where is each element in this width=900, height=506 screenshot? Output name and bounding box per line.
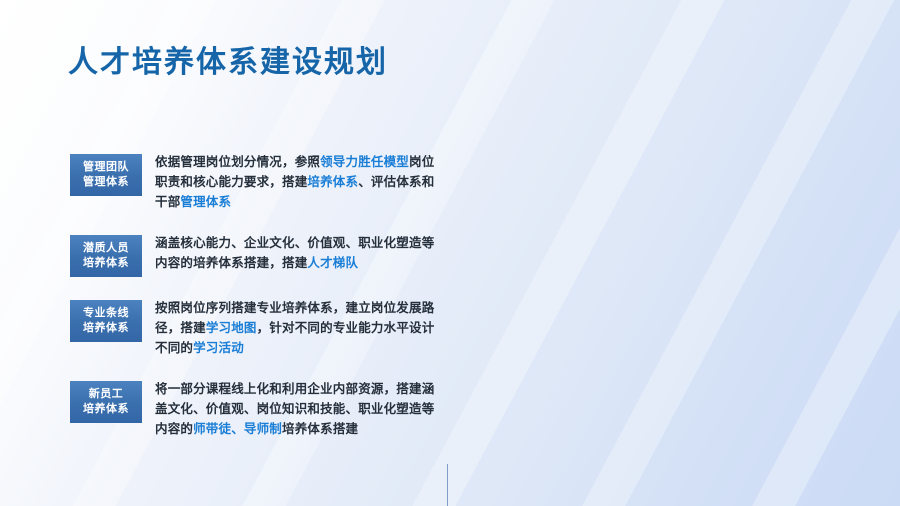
item-badge-line1: 管理团队 [83,160,129,175]
page-title: 人才培养体系建设规划 [68,37,900,81]
item-description: 按照岗位序列搭建专业培养体系，建立岗位发展路径，搭建学习地图，针对不同的专业能力… [142,298,440,358]
highlight-text: 学习活动 [193,341,244,355]
body-text: 培养体系搭建 [282,422,358,436]
highlight-text: 管理体系 [180,195,231,209]
item-badge-line1: 新员工 [89,387,124,402]
item-badge: 管理团队 管理体系 [70,154,142,196]
body-text: 依据管理岗位划分情况，参照 [155,155,320,169]
list-item[interactable]: 管理团队 管理体系 依据管理岗位划分情况，参照领导力胜任模型岗位职责和核心能力要… [70,152,440,212]
item-badge-line2: 培养体系 [83,402,129,417]
item-description: 将一部分课程线上化和利用企业内部资源，搭建涵盖文化、价值观、岗位知识和技能、职业… [142,379,440,439]
list-item[interactable]: 专业条线 培养体系 按照岗位序列搭建专业培养体系，建立岗位发展路径，搭建学习地图… [70,298,440,358]
body-text: 涵盖核心能力、企业文化、价值观、职业化塑造等内容的培养体系搭建，搭建 [155,236,434,270]
item-badge: 专业条线 培养体系 [70,300,142,342]
item-badge-line1: 潜质人员 [83,241,129,256]
item-description: 涵盖核心能力、企业文化、价值观、职业化塑造等内容的培养体系搭建，搭建人才梯队 [142,233,440,273]
item-list: 管理团队 管理体系 依据管理岗位划分情况，参照领导力胜任模型岗位职责和核心能力要… [70,152,440,439]
highlight-text: 师带徒、导师制 [193,422,282,436]
item-badge: 新员工 培养体系 [70,381,142,423]
item-badge-line2: 培养体系 [83,256,129,271]
list-item[interactable]: 潜质人员 培养体系 涵盖核心能力、企业文化、价值观、职业化塑造等内容的培养体系搭… [70,233,440,277]
item-badge-line2: 培养体系 [83,321,129,336]
connector-line [447,464,448,506]
highlight-text: 人才梯队 [307,256,358,270]
item-badge: 潜质人员 培养体系 [70,235,142,277]
list-item[interactable]: 新员工 培养体系 将一部分课程线上化和利用企业内部资源，搭建涵盖文化、价值观、岗… [70,379,440,439]
slide-canvas: 人才培养体系建设规划 管理团队 管理体系 依据管理岗位划分情况，参照领导力胜任模… [0,0,900,506]
highlight-text: 领导力胜任模型 [320,155,409,169]
highlight-text: 学习地图 [206,321,257,335]
highlight-text: 培养体系 [307,175,358,189]
item-badge-line1: 专业条线 [83,306,129,321]
item-badge-line2: 管理体系 [83,175,129,190]
item-description: 依据管理岗位划分情况，参照领导力胜任模型岗位职责和核心能力要求，搭建培养体系、评… [142,152,440,212]
